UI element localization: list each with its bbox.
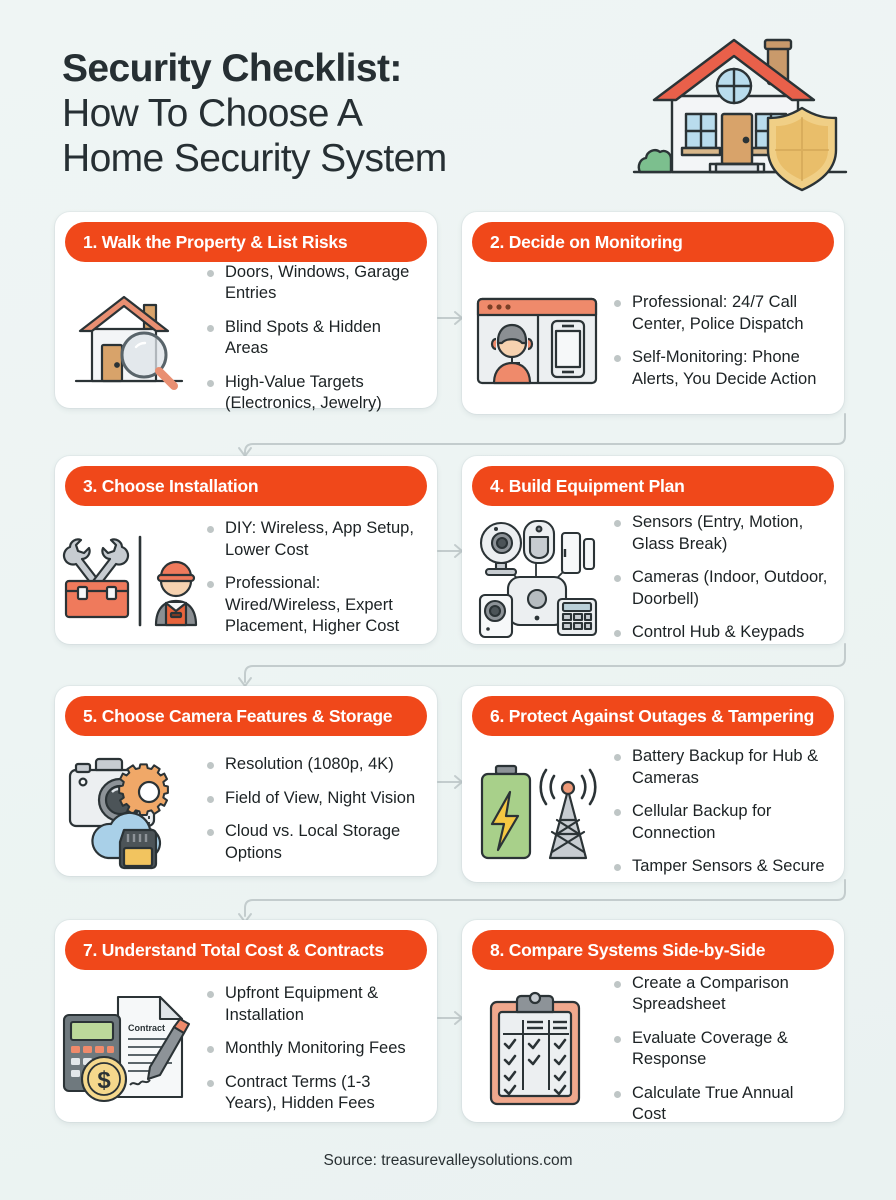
- card-step-6[interactable]: 6. Protect Against Outages & Tampering: [462, 686, 844, 882]
- list-item: Evaluate Coverage & Response: [612, 1028, 830, 1071]
- clipboard-checklist-icon: [462, 990, 612, 1108]
- card-step-3[interactable]: 3. Choose Installation: [55, 456, 437, 644]
- list-item: Control Hub & Keypads: [612, 622, 830, 644]
- card-heading-6: 6. Protect Against Outages & Tampering: [472, 706, 814, 727]
- card-body-7: Contract: [55, 976, 437, 1122]
- card-header-8: 8. Compare Systems Side-by-Side: [472, 930, 834, 970]
- card-heading-7: 7. Understand Total Cost & Contracts: [65, 940, 384, 961]
- card-body-6: Battery Backup for Hub & Cameras Cellula…: [462, 742, 844, 882]
- card-heading-4: 4. Build Equipment Plan: [472, 476, 685, 497]
- list-item: Cloud vs. Local Storage Options: [205, 821, 423, 864]
- list-item: Battery Backup for Hub & Cameras: [612, 746, 830, 789]
- card-heading-8: 8. Compare Systems Side-by-Side: [472, 940, 765, 961]
- list-item: Create a Comparison Spreadsheet: [612, 973, 830, 1016]
- list-item: Cellular Backup for Connection: [612, 801, 830, 844]
- card-body-8: Create a Comparison Spreadsheet Evaluate…: [462, 976, 844, 1122]
- camera-cloud-sdcard-icon: [55, 748, 205, 870]
- toolbox-technician-icon: [55, 525, 205, 631]
- card-step-5[interactable]: 5. Choose Camera Features & Storage: [55, 686, 437, 876]
- list-item: Tamper Sensors & Secure: [612, 856, 830, 878]
- card-step-1[interactable]: 1. Walk the Property & List Risks: [55, 212, 437, 408]
- card-header-1: 1. Walk the Property & List Risks: [65, 222, 427, 262]
- bullet-list-6: Battery Backup for Hub & Cameras Cellula…: [612, 746, 844, 878]
- card-body-3: DIY: Wireless, App Setup, Lower Cost Pro…: [55, 512, 437, 644]
- card-header-4: 4. Build Equipment Plan: [472, 466, 834, 506]
- list-item: Sensors (Entry, Motion, Glass Break): [612, 512, 830, 555]
- svg-text:$: $: [97, 1067, 111, 1094]
- monitoring-operator-phone-icon: [462, 295, 612, 387]
- bullet-list-3: DIY: Wireless, App Setup, Lower Cost Pro…: [205, 518, 437, 638]
- list-item: Monthly Monitoring Fees: [205, 1038, 423, 1060]
- card-step-4[interactable]: 4. Build Equipment Plan: [462, 456, 844, 644]
- list-item: DIY: Wireless, App Setup, Lower Cost: [205, 518, 423, 561]
- infographic-page: Security Checklist: How To Choose A Home…: [0, 0, 896, 1200]
- security-equipment-cluster-icon: [462, 517, 612, 639]
- card-header-2: 2. Decide on Monitoring: [472, 222, 834, 262]
- list-item: Self-Monitoring: Phone Alerts, You Decid…: [612, 347, 830, 390]
- card-step-8[interactable]: 8. Compare Systems Side-by-Side: [462, 920, 844, 1122]
- card-header-5: 5. Choose Camera Features & Storage: [65, 696, 427, 736]
- list-item: Upfront Equipment & Installation: [205, 983, 423, 1026]
- list-item: Professional: 24/7 Call Center, Police D…: [612, 292, 830, 335]
- card-header-3: 3. Choose Installation: [65, 466, 427, 506]
- bullet-list-1: Doors, Windows, Garage Entries Blind Spo…: [205, 262, 437, 415]
- list-item: High-Value Targets (Electronics, Jewelry…: [205, 372, 423, 415]
- list-item: Doors, Windows, Garage Entries: [205, 262, 423, 305]
- card-heading-2: 2. Decide on Monitoring: [472, 232, 683, 253]
- bullet-list-5: Resolution (1080p, 4K) Field of View, Ni…: [205, 754, 437, 864]
- battery-cell-tower-icon: [462, 756, 612, 868]
- card-body-1: Doors, Windows, Garage Entries Blind Spo…: [55, 268, 437, 408]
- contract-label: Contract: [128, 1023, 165, 1033]
- list-item: Contract Terms (1-3 Years), Hidden Fees: [205, 1072, 423, 1115]
- list-item: Blind Spots & Hidden Areas: [205, 317, 423, 360]
- card-body-4: Sensors (Entry, Motion, Glass Break) Cam…: [462, 512, 844, 644]
- card-heading-5: 5. Choose Camera Features & Storage: [65, 706, 392, 727]
- list-item: Cameras (Indoor, Outdoor, Doorbell): [612, 567, 830, 610]
- card-header-7: 7. Understand Total Cost & Contracts: [65, 930, 427, 970]
- card-step-2[interactable]: 2. Decide on Monitoring: [462, 212, 844, 414]
- list-item: Professional: Wired/Wireless, Expert Pla…: [205, 573, 423, 638]
- calculator-contract-coin-icon: Contract: [55, 989, 205, 1109]
- bullet-list-2: Professional: 24/7 Call Center, Police D…: [612, 292, 844, 390]
- card-body-5: Resolution (1080p, 4K) Field of View, Ni…: [55, 742, 437, 876]
- card-heading-3: 3. Choose Installation: [65, 476, 258, 497]
- card-heading-1: 1. Walk the Property & List Risks: [65, 232, 347, 253]
- card-body-2: Professional: 24/7 Call Center, Police D…: [462, 268, 844, 414]
- bullet-list-8: Create a Comparison Spreadsheet Evaluate…: [612, 973, 844, 1126]
- card-header-6: 6. Protect Against Outages & Tampering: [472, 696, 834, 736]
- house-magnifier-icon: [55, 283, 205, 393]
- cards-grid: 1. Walk the Property & List Risks: [0, 0, 896, 1200]
- list-item: Field of View, Night Vision: [205, 788, 423, 810]
- bullet-list-4: Sensors (Entry, Motion, Glass Break) Cam…: [612, 512, 844, 644]
- bullet-list-7: Upfront Equipment & Installation Monthly…: [205, 983, 437, 1115]
- list-item: Calculate True Annual Cost: [612, 1083, 830, 1126]
- list-item: Resolution (1080p, 4K): [205, 754, 423, 776]
- source-footer: Source: treasurevalleysolutions.com: [0, 1152, 896, 1170]
- card-step-7[interactable]: 7. Understand Total Cost & Contracts: [55, 920, 437, 1122]
